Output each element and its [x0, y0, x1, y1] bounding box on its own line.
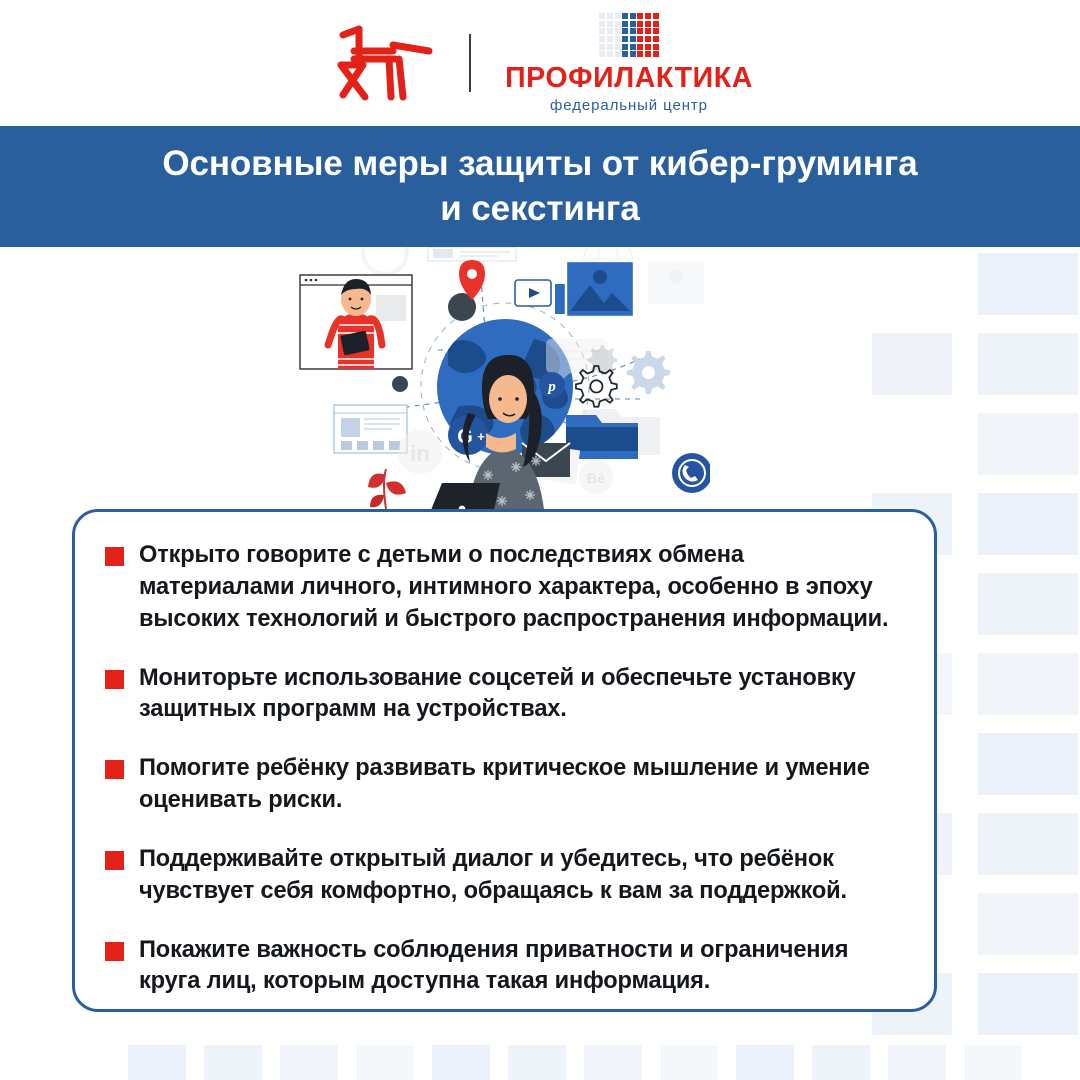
recommendation-item: Покажите важность соблюдения приватности…: [105, 935, 890, 999]
background-cell: [978, 573, 1078, 635]
background-cell: [660, 1045, 718, 1080]
logo-square: [630, 28, 636, 34]
logo-square: [607, 13, 613, 19]
logo-square: [607, 21, 613, 27]
bullet-square-icon: [105, 670, 124, 689]
background-cell: [584, 1045, 642, 1080]
logo-square: [599, 28, 605, 34]
logo-square: [615, 21, 621, 27]
background-cell: [978, 973, 1078, 1035]
page-title: Основные меры защиты от кибер-груминга и…: [162, 142, 917, 232]
bullet-square-icon: [105, 851, 124, 870]
logo-square: [653, 44, 659, 50]
logo-square: [615, 51, 621, 57]
recommendation-text: Покажите важность соблюдения приватности…: [139, 935, 890, 999]
background-cell: [812, 1045, 870, 1080]
recommendation-item: Мониторьте использование соцсетей и обес…: [105, 663, 890, 727]
recommendation-item: Открыто говорите с детьми о последствиях…: [105, 540, 890, 636]
logo-square: [599, 21, 605, 27]
logo-square: [622, 28, 628, 34]
dot-decoration: [392, 376, 408, 392]
brand-name: ПРОФИЛАКТИКА: [505, 64, 753, 93]
logo-square: [645, 28, 651, 34]
logo-square: [599, 13, 605, 19]
logo-square: [645, 21, 651, 27]
logo-square: [653, 28, 659, 34]
background-cell: [204, 1045, 262, 1080]
recommendation-text: Открыто говорите с детьми о последствиях…: [139, 540, 890, 636]
logo-square: [622, 21, 628, 27]
title-banner: Основные меры защиты от кибер-груминга и…: [0, 126, 1080, 247]
recommendation-text: Мониторьте использование соцсетей и обес…: [139, 663, 890, 727]
svg-text:+: +: [477, 429, 485, 444]
page-title-line-2: и секстинга: [440, 189, 639, 228]
logo-square: [599, 36, 605, 42]
browser-window-icon: [300, 275, 412, 369]
logo-square: [645, 44, 651, 50]
logo-square: [607, 28, 613, 34]
bullet-square-icon: [105, 547, 124, 566]
logo-square: [615, 28, 621, 34]
logo-square: [615, 44, 621, 50]
svg-text:in: in: [410, 441, 430, 466]
logo-square: [645, 51, 651, 57]
background-cell: [508, 1045, 566, 1080]
logo-square: [637, 13, 643, 19]
hero-illustration: in: [0, 247, 1080, 537]
logo-square: [645, 13, 651, 19]
logo-square: [630, 21, 636, 27]
page-title-line-1: Основные меры защиты от кибер-груминга: [162, 144, 917, 183]
svg-text:Bē: Bē: [587, 470, 605, 486]
svg-text:p: p: [546, 379, 556, 395]
background-cell: [978, 813, 1078, 875]
logo-square: [622, 44, 628, 50]
behance-icon: Bē: [579, 460, 613, 494]
logo-square: [645, 36, 651, 42]
logo-square: [607, 51, 613, 57]
logo-square: [637, 21, 643, 27]
whatsapp-icon: [672, 453, 710, 493]
background-cell: [128, 1045, 186, 1080]
background-cell: [280, 1045, 338, 1080]
logo-square: [622, 51, 628, 57]
bullet-square-icon: [105, 760, 124, 779]
logo-square: [637, 36, 643, 42]
recommendation-text: Поддерживайте открытый диалог и убедитес…: [139, 844, 890, 908]
background-cell: [978, 653, 1078, 715]
logo-square: [653, 21, 659, 27]
background-cell: [978, 733, 1078, 795]
pinterest-icon: p: [539, 372, 565, 398]
logo-square: [637, 28, 643, 34]
linkedin-icon: in: [398, 430, 442, 474]
brand-lockup: ПРОФИЛАКТИКА федеральный центр: [505, 13, 753, 112]
background-cell: [432, 1045, 490, 1080]
logo-header: ПРОФИЛАКТИКА федеральный центр: [0, 0, 1080, 126]
brand-subtitle: федеральный центр: [550, 98, 708, 113]
play-video-icon: [515, 280, 551, 306]
logo-square: [615, 13, 621, 19]
bullet-square-icon: [105, 942, 124, 961]
background-cell: [978, 893, 1078, 955]
logo-square: [653, 36, 659, 42]
background-cell: [736, 1045, 794, 1080]
poster-root: ПРОФИЛАКТИКА федеральный центр Основные …: [0, 0, 1080, 1080]
folder-icon: [566, 409, 660, 459]
logo-square: [653, 51, 659, 57]
logo-square: [637, 51, 643, 57]
logo-square: [599, 51, 605, 57]
red-dog-line-art-icon: [327, 20, 439, 106]
logo-square: [622, 13, 628, 19]
logo-square: [630, 36, 636, 42]
recommendation-item: Поддерживайте открытый диалог и убедитес…: [105, 844, 890, 908]
background-cell: [888, 1045, 946, 1080]
logo-square: [637, 44, 643, 50]
logo-square: [630, 51, 636, 57]
logo-square: [607, 36, 613, 42]
russia-flag-squares-icon: [599, 13, 658, 57]
background-cell: [356, 1045, 414, 1080]
logo-square: [630, 44, 636, 50]
logo-square: [622, 36, 628, 42]
background-cell: [964, 1045, 1022, 1080]
webpage-card-icon: [334, 405, 407, 453]
logo-square: [653, 13, 659, 19]
logo-divider: [469, 34, 471, 92]
logo-square: [615, 36, 621, 42]
recommendations-card: Открыто говорите с детьми о последствиях…: [72, 509, 937, 1012]
recommendation-item: Помогите ребёнку развивать критическое м…: [105, 753, 890, 817]
logo-square: [607, 44, 613, 50]
plant-icon: [368, 469, 406, 509]
logo-square: [599, 44, 605, 50]
image-gallery-icon: [554, 261, 634, 317]
recommendation-text: Помогите ребёнку развивать критическое м…: [139, 753, 890, 817]
recommendations-list: Открыто говорите с детьми о последствиях…: [105, 540, 890, 998]
logo-square: [630, 13, 636, 19]
